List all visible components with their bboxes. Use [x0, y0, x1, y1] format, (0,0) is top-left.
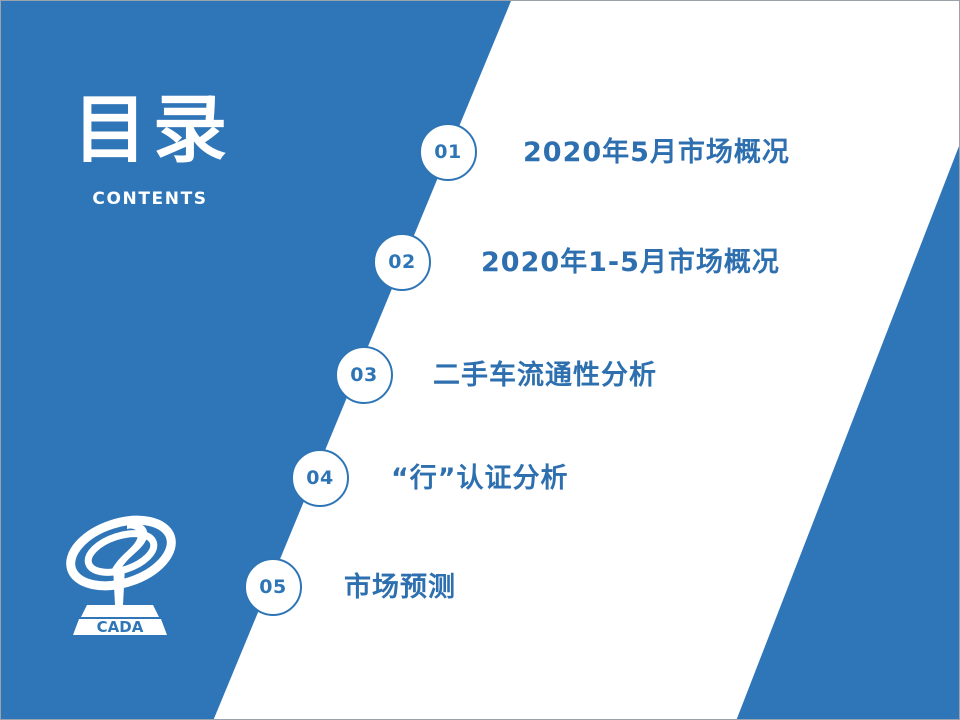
toc-item-05[interactable]: 05 市场预测	[244, 558, 456, 616]
cada-wordmark: CADA	[97, 618, 144, 636]
page-subtitle: CONTENTS	[0, 189, 341, 209]
toc-item-01[interactable]: 01 2020年5月市场概况	[419, 123, 790, 181]
toc-item-02[interactable]: 02 2020年1-5月市场概况	[373, 233, 780, 291]
toc-item-04[interactable]: 04 “行”认证分析	[291, 449, 569, 507]
title-block: 目录 CONTENTS	[1, 93, 341, 209]
toc-number-badge: 04	[291, 449, 349, 507]
toc-item-label: 二手车流通性分析	[433, 362, 657, 389]
slide-canvas: 目录 CONTENTS CADA 01 2020年5月市场概况 02 2020年…	[0, 0, 960, 720]
toc-item-label: 2020年5月市场概况	[523, 139, 790, 166]
page-title: 目录	[0, 93, 341, 167]
toc-item-label: 市场预测	[344, 574, 456, 601]
toc-number-badge: 03	[335, 346, 393, 404]
right-blue-wedge	[736, 141, 960, 720]
cada-logo: CADA	[49, 501, 199, 641]
toc-item-label: 2020年1-5月市场概况	[481, 249, 780, 276]
toc-item-03[interactable]: 03 二手车流通性分析	[335, 346, 657, 404]
toc-number-badge: 02	[373, 233, 431, 291]
toc-item-label: “行”认证分析	[391, 465, 569, 492]
toc-number-badge: 01	[419, 123, 477, 181]
toc-number-badge: 05	[244, 558, 302, 616]
